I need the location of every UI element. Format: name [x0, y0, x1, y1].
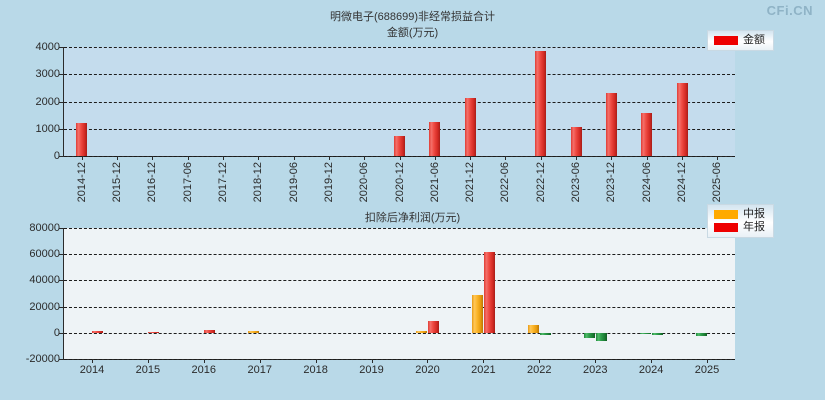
x-axis-tick-label: 2019-06 — [288, 162, 300, 202]
non-recurring-gain-loss-chart: 明微电子(688699)非经常损益合计 金额(万元) 0100020003000… — [0, 0, 825, 200]
bar — [571, 127, 582, 156]
x-axis-tick-label: 2024-12 — [676, 162, 688, 202]
top-chart-title: 明微电子(688699)非经常损益合计 — [0, 8, 825, 24]
x-axis-tick-mark — [316, 359, 317, 363]
gridline — [64, 102, 735, 103]
x-axis-tick-label: 2017-06 — [182, 162, 194, 202]
bar — [465, 98, 476, 156]
x-axis-tick-label: 2019 — [359, 364, 383, 376]
y-axis-tick-label: 20000 — [29, 301, 60, 313]
top-chart-legend: 金额 — [707, 30, 774, 51]
gridline — [64, 129, 735, 130]
x-axis-tick-label: 2023-06 — [570, 162, 582, 202]
y-axis-tick-label: 3000 — [36, 68, 60, 80]
bar — [641, 113, 652, 156]
y-axis-tick-label: 0 — [54, 150, 60, 162]
legend-swatch-amount-icon — [714, 36, 738, 45]
x-axis-tick-label: 2018-12 — [252, 162, 264, 202]
x-axis-tick-mark — [483, 359, 484, 363]
x-axis-tick-mark — [372, 359, 373, 363]
x-axis-tick-mark — [188, 156, 189, 160]
bar — [677, 83, 688, 156]
x-axis-tick-label: 2020 — [415, 364, 439, 376]
legend-label-annual: 年报 — [743, 221, 765, 234]
gridline — [64, 333, 735, 334]
bar — [428, 321, 439, 333]
y-axis-tick-label: 60000 — [29, 248, 60, 260]
bar — [596, 333, 607, 341]
bar — [606, 93, 617, 156]
x-axis-tick-label: 2018 — [303, 364, 327, 376]
bar — [484, 252, 495, 333]
x-axis-tick-mark — [470, 156, 471, 160]
top-chart-subtitle: 金额(万元) — [0, 24, 825, 40]
y-axis-tick-label: 1000 — [36, 123, 60, 135]
x-axis-tick-label: 2024-06 — [641, 162, 653, 202]
gridline — [64, 307, 735, 308]
gridline — [64, 74, 735, 75]
y-axis-tick-label: 4000 — [36, 41, 60, 53]
bar — [148, 332, 159, 333]
bar — [540, 333, 551, 335]
x-axis-tick-label: 2021 — [471, 364, 495, 376]
bar — [584, 333, 595, 339]
bar — [472, 295, 483, 333]
legend-swatch-interim-icon — [714, 210, 738, 219]
x-axis-tick-label: 2022 — [527, 364, 551, 376]
x-axis-tick-label: 2016 — [192, 364, 216, 376]
x-axis-tick-label: 2021-06 — [429, 162, 441, 202]
x-axis-tick-mark — [717, 156, 718, 160]
x-axis-tick-mark — [223, 156, 224, 160]
x-axis-tick-mark — [148, 359, 149, 363]
x-axis-tick-label: 2014-12 — [76, 162, 88, 202]
deducted-net-profit-chart: 扣除后净利润(万元) -2000002000040000600008000020… — [0, 200, 825, 400]
x-axis-tick-mark — [258, 156, 259, 160]
bar — [429, 122, 440, 156]
x-axis-tick-mark — [400, 156, 401, 160]
x-axis-tick-mark — [651, 359, 652, 363]
legend-label-amount: 金额 — [743, 34, 765, 47]
x-axis-tick-label: 2020-12 — [394, 162, 406, 202]
x-axis-tick-label: 2021-12 — [464, 162, 476, 202]
x-axis-tick-mark — [611, 156, 612, 160]
y-axis-tick-label: 2000 — [36, 96, 60, 108]
x-axis-tick-label: 2017-12 — [217, 162, 229, 202]
x-axis-tick-mark — [364, 156, 365, 160]
x-axis-tick-label: 2015-12 — [111, 162, 123, 202]
x-axis-tick-label: 2019-12 — [323, 162, 335, 202]
gridline — [64, 228, 735, 229]
bar — [696, 333, 707, 336]
x-axis-tick-mark — [117, 156, 118, 160]
x-axis-tick-mark — [82, 156, 83, 160]
y-axis-tick-label: 0 — [54, 327, 60, 339]
y-axis-tick-label: -20000 — [26, 353, 60, 365]
x-axis-tick-mark — [707, 359, 708, 363]
x-axis-tick-mark — [152, 156, 153, 160]
top-plot-area: 010002000300040002014-122015-122016-1220… — [63, 47, 735, 157]
x-axis-tick-mark — [595, 359, 596, 363]
x-axis-tick-label: 2014 — [80, 364, 104, 376]
legend-item-annual: 年报 — [714, 221, 765, 234]
x-axis-tick-mark — [576, 156, 577, 160]
gridline — [64, 47, 735, 48]
x-axis-tick-label: 2025-06 — [711, 162, 723, 202]
bottom-chart-title: 扣除后净利润(万元) — [0, 209, 825, 225]
bar — [92, 331, 103, 333]
x-axis-tick-label: 2022-12 — [535, 162, 547, 202]
bar — [204, 330, 215, 333]
bar — [528, 325, 539, 333]
legend-item-amount: 金额 — [714, 34, 765, 47]
legend-item-interim: 中报 — [714, 208, 765, 221]
bar — [394, 136, 405, 156]
bottom-plot-area: -200000200004000060000800002014201520162… — [63, 228, 735, 360]
x-axis-tick-label: 2024 — [639, 364, 663, 376]
bar — [652, 333, 663, 335]
x-axis-tick-label: 2023 — [583, 364, 607, 376]
x-axis-tick-mark — [539, 359, 540, 363]
x-axis-tick-label: 2020-06 — [358, 162, 370, 202]
legend-swatch-annual-icon — [714, 223, 738, 232]
y-axis-tick-label: 80000 — [29, 222, 60, 234]
x-axis-tick-label: 2017 — [247, 364, 271, 376]
bar — [248, 331, 259, 332]
gridline — [64, 280, 735, 281]
bar — [535, 51, 546, 156]
x-axis-tick-mark — [435, 156, 436, 160]
legend-label-interim: 中报 — [743, 208, 765, 221]
bar — [76, 123, 87, 156]
bottom-chart-legend: 中报 年报 — [707, 204, 774, 238]
x-axis-tick-label: 2023-12 — [605, 162, 617, 202]
x-axis-tick-mark — [505, 156, 506, 160]
bar — [416, 331, 427, 333]
x-axis-tick-label: 2016-12 — [146, 162, 158, 202]
x-axis-tick-label: 2022-06 — [499, 162, 511, 202]
x-axis-tick-label: 2015 — [136, 364, 160, 376]
x-axis-tick-mark — [260, 359, 261, 363]
x-axis-tick-mark — [682, 156, 683, 160]
y-axis-tick-label: 40000 — [29, 274, 60, 286]
x-axis-tick-mark — [427, 359, 428, 363]
x-axis-tick-label: 2025 — [695, 364, 719, 376]
gridline — [64, 254, 735, 255]
gridline — [64, 359, 735, 360]
x-axis-tick-mark — [294, 156, 295, 160]
x-axis-tick-mark — [541, 156, 542, 160]
x-axis-tick-mark — [92, 359, 93, 363]
bar — [640, 333, 651, 334]
x-axis-tick-mark — [647, 156, 648, 160]
x-axis-tick-mark — [204, 359, 205, 363]
x-axis-tick-mark — [329, 156, 330, 160]
